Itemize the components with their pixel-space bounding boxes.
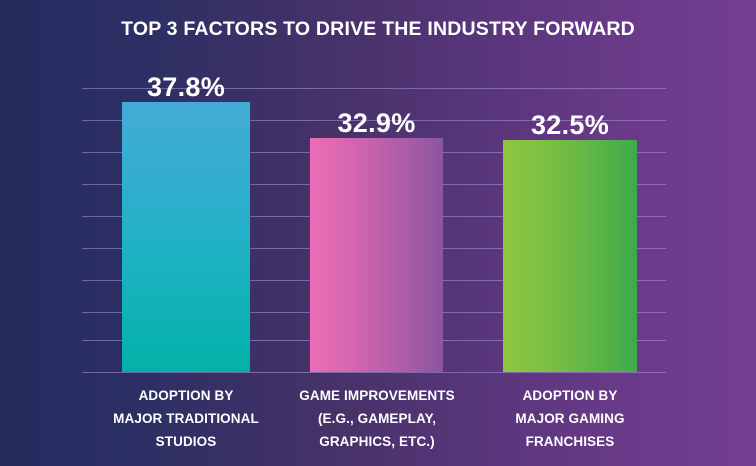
chart-title: TOP 3 FACTORS TO DRIVE THE INDUSTRY FORW… (0, 16, 756, 42)
x-axis-label-1-line-2: MAJOR TRADITIONAL (96, 407, 276, 430)
bar-game-improvements[interactable] (310, 138, 443, 372)
x-axis-label-1: ADOPTION BY MAJOR TRADITIONAL STUDIOS (96, 384, 276, 453)
x-axis-label-1-line-3: STUDIOS (96, 430, 276, 453)
x-axis-labels: ADOPTION BY MAJOR TRADITIONAL STUDIOS GA… (82, 384, 666, 464)
bar-adoption-by-major-gaming-franchises[interactable] (503, 140, 637, 372)
bar-value-label-3: 32.5% (503, 110, 637, 140)
x-axis-label-1-line-1: ADOPTION BY (96, 384, 276, 407)
x-axis-label-2-line-1: GAME IMPROVEMENTS (282, 384, 472, 407)
x-axis-label-3: ADOPTION BY MAJOR GAMING FRANCHISES (480, 384, 660, 453)
x-axis-label-3-line-2: MAJOR GAMING (480, 407, 660, 430)
x-axis-label-3-line-3: FRANCHISES (480, 430, 660, 453)
x-axis-label-2-line-3: GRAPHICS, ETC.) (282, 430, 472, 453)
x-axis-label-2-line-2: (E.G., GAMEPLAY, (282, 407, 472, 430)
bar-adoption-by-major-traditional-studios[interactable] (122, 102, 250, 372)
plot-area: 37.8% 32.9% 32.5% (82, 84, 666, 374)
chart-container: TOP 3 FACTORS TO DRIVE THE INDUSTRY FORW… (0, 0, 756, 466)
bars-group: 37.8% 32.9% 32.5% (82, 84, 666, 374)
x-axis-label-2: GAME IMPROVEMENTS (E.G., GAMEPLAY, GRAPH… (282, 384, 472, 453)
x-axis-label-3-line-1: ADOPTION BY (480, 384, 660, 407)
bar-value-label-1: 37.8% (122, 72, 250, 102)
bar-value-label-2: 32.9% (310, 108, 443, 138)
